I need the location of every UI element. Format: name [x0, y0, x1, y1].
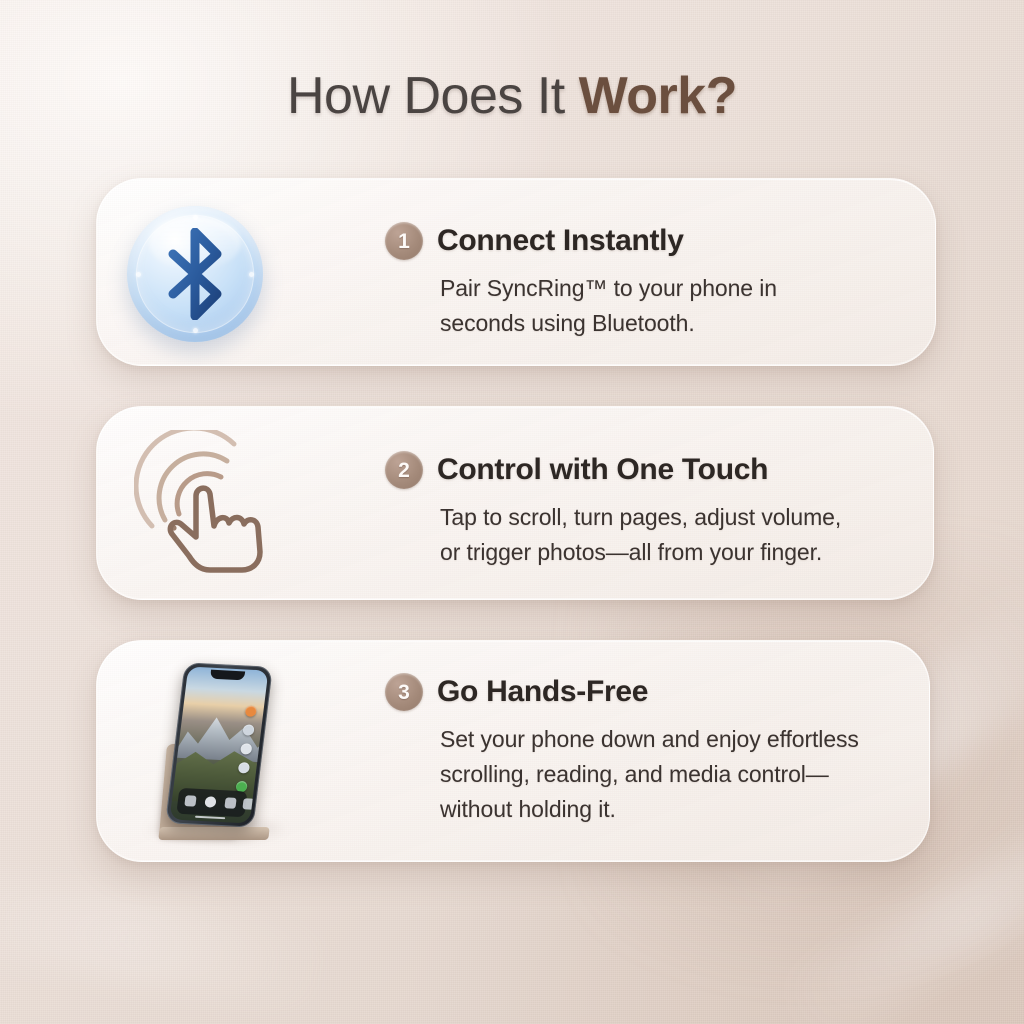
- step-card-2[interactable]: 2 Control with One Touch Tap to scroll, …: [96, 406, 934, 600]
- step-3-body: Set your phone down and enjoy effortless…: [440, 722, 930, 827]
- step-number-badge-1: 1: [385, 222, 423, 260]
- step-card-3[interactable]: 3 Go Hands-Free Set your phone down and …: [96, 640, 930, 862]
- phone-notch: [210, 670, 245, 681]
- phone-on-stand-image: [139, 655, 293, 851]
- bluetooth-puck: [127, 206, 263, 342]
- app-icon: [245, 705, 257, 716]
- dock-icon: [204, 796, 216, 807]
- fabric-fold: [0, 864, 344, 1016]
- page-title-bold: Work?: [579, 67, 737, 125]
- dock-icon: [242, 798, 254, 809]
- puck-dot: [136, 272, 141, 277]
- phone-dock: [176, 788, 247, 817]
- bluetooth-icon: [121, 200, 269, 348]
- touch-glyph: [134, 430, 284, 580]
- page-title: How Does It Work?: [0, 66, 1024, 126]
- step-card-1[interactable]: 1 Connect Instantly Pair SyncRing™ to yo…: [96, 178, 936, 366]
- step-2-body-line-1: Tap to scroll, turn pages, adjust volume…: [440, 500, 934, 535]
- step-1-body-line-1: Pair SyncRing™ to your phone in: [440, 271, 905, 306]
- step-1-body: Pair SyncRing™ to your phone in seconds …: [440, 271, 905, 341]
- puck-dot: [249, 272, 254, 277]
- app-icon: [242, 724, 254, 735]
- page-title-light: How Does It: [287, 67, 579, 125]
- step-3-body-line-1: Set your phone down and enjoy effortless: [440, 722, 930, 757]
- step-2-body-line-2: or trigger photos—all from your finger.: [440, 535, 934, 570]
- step-card-3-text: 3 Go Hands-Free Set your phone down and …: [385, 673, 930, 827]
- bluetooth-glyph: [160, 228, 230, 320]
- step-3-headline-row: 3 Go Hands-Free: [385, 673, 930, 711]
- phone-stand-art: [141, 658, 291, 848]
- infographic-canvas: How Does It Work?: [0, 0, 1024, 1024]
- step-1-headline: Connect Instantly: [437, 224, 684, 258]
- step-2-headline-row: 2 Control with One Touch: [385, 451, 934, 489]
- touch-gesture-art: [134, 430, 284, 580]
- step-3-body-line-3: without holding it.: [440, 792, 930, 827]
- step-3-headline: Go Hands-Free: [437, 675, 648, 709]
- step-1-body-line-2: seconds using Bluetooth.: [440, 306, 905, 341]
- dock-icon: [224, 797, 236, 808]
- phone-screen: [170, 666, 269, 823]
- step-card-2-text: 2 Control with One Touch Tap to scroll, …: [385, 451, 934, 570]
- step-number-badge-3: 3: [385, 673, 423, 711]
- phone-home-indicator: [195, 816, 225, 820]
- step-3-body-line-2: scrolling, reading, and media control—: [440, 757, 930, 792]
- touch-gesture-icon: [133, 429, 285, 581]
- puck-dot: [193, 328, 198, 333]
- step-2-body: Tap to scroll, turn pages, adjust volume…: [440, 500, 934, 570]
- dock-icon: [184, 795, 196, 806]
- step-card-1-text: 1 Connect Instantly Pair SyncRing™ to yo…: [385, 222, 905, 341]
- phone-device: [165, 662, 273, 827]
- step-1-headline-row: 1 Connect Instantly: [385, 222, 905, 260]
- step-2-headline: Control with One Touch: [437, 453, 768, 487]
- step-number-badge-2: 2: [385, 451, 423, 489]
- phone-stand-base: [158, 827, 269, 840]
- puck-dot: [193, 215, 198, 220]
